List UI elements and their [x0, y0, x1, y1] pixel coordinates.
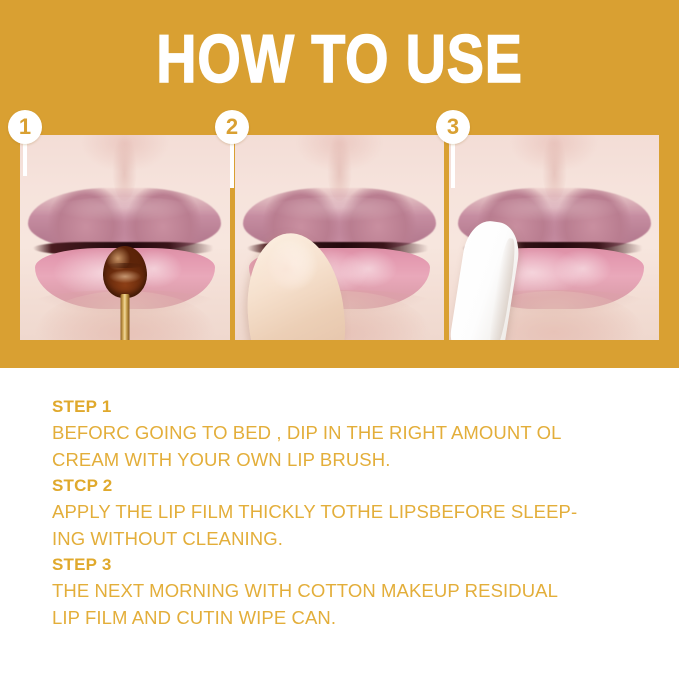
instructions-list: STEP 1 BEFORC GOING TO BED , DIP IN THE … [52, 394, 652, 631]
hero-band: HOW TO USE [0, 0, 679, 368]
step-1-heading: STEP 1 [52, 394, 652, 420]
step-3-heading: STEP 3 [52, 552, 652, 578]
step-badge-3: 3 [436, 110, 470, 144]
step-1-body: BEFORC GOING TO BED , DIP IN THE RIGHT A… [52, 420, 652, 473]
lip-brush-wand-icon [102, 246, 148, 340]
step-image-2 [235, 135, 445, 340]
step-badge-2: 2 [215, 110, 249, 144]
upper-lip [28, 188, 221, 250]
badge-stem-3 [451, 140, 455, 188]
instruction-step-3: STEP 3 THE NEXT MORNING WITH COTTON MAKE… [52, 552, 652, 631]
step-badge-1: 1 [8, 110, 42, 144]
photo-strip [20, 135, 659, 340]
badge-stem-2 [230, 140, 234, 188]
page-title: HOW TO USE [61, 24, 618, 94]
badge-stem-1 [23, 140, 27, 176]
instruction-step-1: STEP 1 BEFORC GOING TO BED , DIP IN THE … [52, 394, 652, 473]
how-to-use-infographic: HOW TO USE [0, 0, 679, 679]
wand-bulb [103, 246, 147, 298]
step-3-body: THE NEXT MORNING WITH COTTON MAKEUP RESI… [52, 578, 652, 631]
step-image-1 [20, 135, 230, 340]
step-image-3 [449, 135, 659, 340]
step-2-heading: STCP 2 [52, 473, 652, 499]
wand-handle [120, 294, 129, 340]
instruction-step-2: STCP 2 APPLY THE LIP FILM THICKLY TOTHE … [52, 473, 652, 552]
step-2-body: APPLY THE LIP FILM THICKLY TOTHE LIPSBEF… [52, 499, 652, 552]
